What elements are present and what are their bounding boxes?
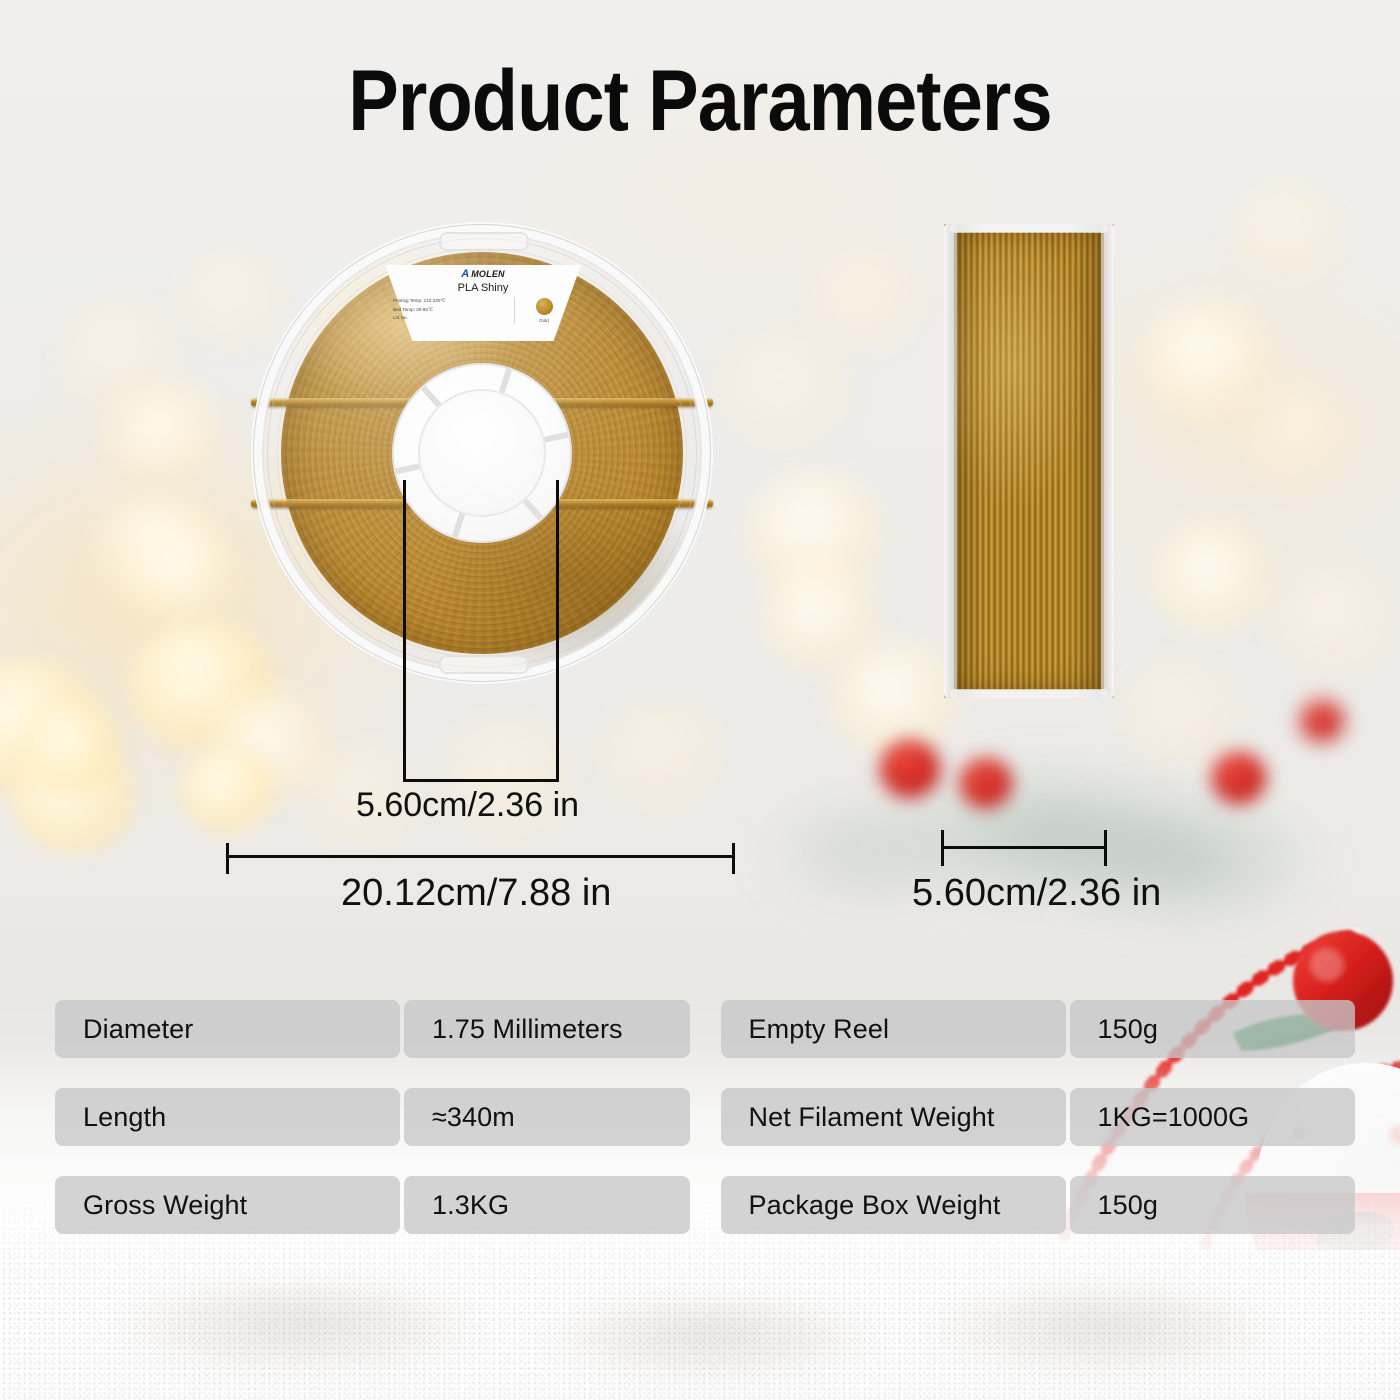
spool-handle-bottom (439, 655, 529, 674)
spool-edge-bottom (950, 689, 1108, 698)
param-pair-right: Empty Reel 150g (721, 1000, 1356, 1058)
bokeh-light (60, 300, 180, 410)
color-name: Gold (539, 318, 549, 323)
measure-bracket-side-width (941, 846, 1107, 849)
measure-line-left (403, 480, 406, 782)
bokeh-light (1270, 560, 1400, 678)
dimension-spool-width: 5.60cm/2.36 in (356, 786, 579, 825)
spool-edge-top (950, 224, 1108, 233)
bokeh-light (1240, 380, 1360, 490)
param-pair-right: Net Filament Weight 1KG=1000G (721, 1088, 1356, 1146)
page-title: Product Parameters (84, 58, 1316, 144)
param-key: Net Filament Weight (721, 1088, 1066, 1146)
param-value: ≈340m (404, 1088, 690, 1146)
param-value: 1KG=1000G (1070, 1088, 1356, 1146)
label-color-block: Gold (515, 297, 573, 323)
param-value: 1.3KG (404, 1176, 690, 1234)
hub-center-hole (418, 389, 546, 517)
param-pair-left: Gross Weight 1.3KG (55, 1176, 690, 1234)
spool-flange-left (944, 224, 957, 698)
parameters-table: Diameter 1.75 Millimeters Empty Reel 150… (55, 1000, 1355, 1234)
measure-tick-left (226, 843, 229, 874)
bokeh-light (1150, 520, 1275, 635)
measure-tick-right (732, 843, 735, 874)
bokeh-light (1230, 180, 1345, 285)
label-bed-temp: Bed Temp: 30-65℃ (393, 306, 510, 314)
product-label: A MOLEN PLA Shiny Printing Temp: 210-230… (385, 265, 581, 341)
spool-flange-right (1101, 224, 1114, 698)
table-row: Diameter 1.75 Millimeters Empty Reel 150… (55, 1000, 1355, 1058)
measure-bracket-diameter (226, 855, 735, 858)
bokeh-light (125, 520, 235, 625)
color-swatch (536, 298, 553, 315)
label-lot-no: Lot No. (393, 314, 510, 322)
param-pair-left: Diameter 1.75 Millimeters (55, 1000, 690, 1058)
label-printing-temp: Printing Temp: 210-230℃ (393, 297, 510, 305)
brand-logo: A MOLEN (385, 268, 581, 280)
table-row: Gross Weight 1.3KG Package Box Weight 15… (55, 1176, 1355, 1234)
bokeh-light (810, 250, 920, 350)
spool-handle-top (439, 232, 529, 251)
param-key: Empty Reel (721, 1000, 1066, 1058)
param-key: Length (55, 1088, 400, 1146)
param-value: 1.75 Millimeters (404, 1000, 690, 1058)
bokeh-light (720, 330, 850, 448)
amolen-logo-mark: A (461, 269, 469, 280)
label-specs: Printing Temp: 210-230℃ Bed Temp: 30-65℃… (393, 297, 515, 323)
red-berry (960, 758, 1012, 808)
param-value: 150g (1070, 1000, 1356, 1058)
bokeh-light (180, 745, 275, 835)
param-pair-right: Package Box Weight 150g (721, 1176, 1356, 1234)
red-berry (1300, 700, 1344, 742)
measure-bracket-width (403, 779, 559, 782)
amolen-wordmark: MOLEN (471, 270, 505, 279)
param-key: Gross Weight (55, 1176, 400, 1234)
param-pair-left: Length ≈340m (55, 1088, 690, 1146)
measure-line-right (556, 480, 559, 782)
bokeh-light (830, 640, 960, 758)
param-key: Diameter (55, 1000, 400, 1058)
bokeh-light (20, 700, 120, 795)
bokeh-light (600, 700, 720, 810)
bokeh-light (1120, 660, 1240, 768)
label-body: Printing Temp: 210-230℃ Bed Temp: 30-65℃… (385, 297, 581, 323)
red-berry (1212, 752, 1266, 804)
filament-spool-side-view (944, 224, 1114, 698)
filament-spool-front-view: A MOLEN PLA Shiny Printing Temp: 210-230… (251, 222, 713, 684)
product-parameters-infographic: A MOLEN PLA Shiny Printing Temp: 210-230… (0, 0, 1400, 1400)
filament-sheen-side (944, 224, 1114, 698)
param-value: 150g (1070, 1176, 1356, 1234)
dimension-side-width: 5.60cm/2.36 in (912, 872, 1161, 915)
dimension-spool-diameter: 20.12cm/7.88 in (341, 872, 611, 915)
table-row: Length ≈340m Net Filament Weight 1KG=100… (55, 1088, 1355, 1146)
label-product-name: PLA Shiny (385, 282, 581, 294)
spool-hub (392, 363, 572, 543)
red-berry (880, 740, 940, 798)
param-key: Package Box Weight (721, 1176, 1066, 1234)
